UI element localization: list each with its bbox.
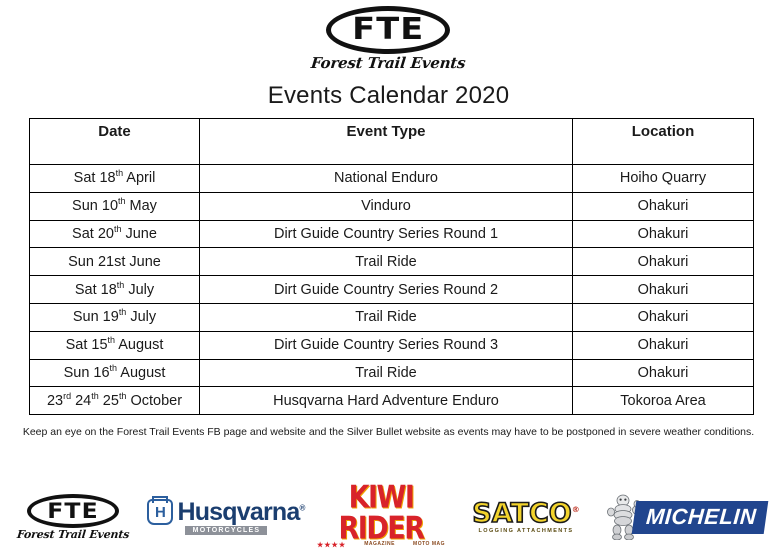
date-ordinal-suffix: th — [91, 391, 99, 401]
sponsor-satco: SATCO® LOGGING ATTACHMENTS — [456, 480, 596, 554]
cell-event-type: Dirt Guide Country Series Round 3 — [200, 331, 573, 359]
husqvarna-wordmark: Husqvarna® — [177, 500, 304, 525]
husqvarna-subtitle: MOTORCYCLES — [185, 526, 267, 535]
cell-event-type: Dirt Guide Country Series Round 1 — [200, 220, 573, 248]
cell-event-type: National Enduro — [200, 165, 573, 193]
sponsor-strip: FTE Forest Trail Events H Husqvarna® MOT… — [0, 480, 777, 554]
cell-event-type: Husqvarna Hard Adventure Enduro — [200, 387, 573, 415]
table-row: Sat 18th JulyDirt Guide Country Series R… — [30, 276, 754, 304]
fte-footer-logo: FTE Forest Trail Events — [17, 494, 129, 540]
cell-location: Ohakuri — [573, 192, 754, 220]
satco-name-text: SATCO — [472, 498, 571, 529]
column-header-event: Event Type — [200, 119, 573, 165]
page-title: Events Calendar 2020 — [0, 82, 777, 110]
cell-date: Sat 18th April — [30, 165, 200, 193]
cell-date: Sun 16th August — [30, 359, 200, 387]
table-row: Sun 21st JuneTrail RideOhakuri — [30, 248, 754, 276]
husqvarna-logo: H Husqvarna® MOTORCYCLES — [147, 499, 304, 535]
cell-location: Ohakuri — [573, 276, 754, 304]
fte-footer-letters: FTE — [47, 501, 99, 522]
cell-location: Ohakuri — [573, 303, 754, 331]
date-ordinal-suffix: th — [114, 224, 122, 234]
table-row: Sat 18th AprilNational EnduroHoiho Quarr… — [30, 165, 754, 193]
fte-oval-icon-footer: FTE — [27, 494, 119, 528]
column-header-date: Date — [30, 119, 200, 165]
cell-event-type: Trail Ride — [200, 359, 573, 387]
date-ordinal-suffix: rd — [63, 391, 71, 401]
date-ordinal-suffix: th — [116, 169, 124, 179]
date-ordinal-suffix: th — [119, 391, 127, 401]
cell-date: Sat 18th July — [30, 276, 200, 304]
table-row: Sun 10th MayVinduroOhakuri — [30, 192, 754, 220]
sponsor-fte: FTE Forest Trail Events — [0, 480, 146, 554]
satco-logo: SATCO® LOGGING ATTACHMENTS — [472, 500, 579, 535]
cell-date: Sat 20th June — [30, 220, 200, 248]
table-row: Sat 20th JuneDirt Guide Country Series R… — [30, 220, 754, 248]
events-table-body: Sat 18th AprilNational EnduroHoiho Quarr… — [30, 165, 754, 415]
date-ordinal-suffix: th — [118, 196, 126, 206]
sponsor-michelin: MICHELIN — [596, 480, 777, 554]
husqvarna-crown-icon: H — [147, 499, 173, 525]
cell-location: Hoiho Quarry — [573, 165, 754, 193]
cell-event-type: Vinduro — [200, 192, 573, 220]
cell-location: Ohakuri — [573, 248, 754, 276]
table-row: Sat 15th AugustDirt Guide Country Series… — [30, 331, 754, 359]
kiwi-rider-wordmark: KIWI RIDER — [306, 481, 456, 543]
kiwi-rider-logo: KIWI RIDER ★★★★ MAGAZINE MOTO MAG — [306, 486, 456, 549]
date-ordinal-suffix: th — [110, 363, 118, 373]
date-ordinal-suffix: th — [117, 280, 125, 290]
events-table-wrap: Date Event Type Location Sat 18th AprilN… — [29, 118, 750, 415]
sponsor-kiwi-rider: KIWI RIDER ★★★★ MAGAZINE MOTO MAG — [306, 480, 456, 554]
fte-logo-script: Forest Trail Events — [311, 56, 467, 71]
weather-footnote: Keep an eye on the Forest Trail Events F… — [0, 426, 777, 438]
cell-location: Tokoroa Area — [573, 387, 754, 415]
cell-date: Sun 19th July — [30, 303, 200, 331]
satco-wordmark: SATCO® — [472, 500, 579, 527]
sponsor-husqvarna: H Husqvarna® MOTORCYCLES — [146, 480, 306, 554]
cell-date: 23rd 24th 25th October — [30, 387, 200, 415]
husqvarna-h-mark: H — [155, 505, 166, 520]
cell-event-type: Trail Ride — [200, 303, 573, 331]
fte-footer-script: Forest Trail Events — [16, 529, 129, 540]
cell-location: Ohakuri — [573, 331, 754, 359]
cell-event-type: Dirt Guide Country Series Round 2 — [200, 276, 573, 304]
husqvarna-name-text: Husqvarna — [177, 498, 299, 526]
table-header-row: Date Event Type Location — [30, 119, 754, 165]
satco-subtitle: LOGGING ATTACHMENTS — [472, 529, 579, 535]
cell-date: Sat 15th August — [30, 331, 200, 359]
cell-location: Ohakuri — [573, 359, 754, 387]
events-calendar-table: Date Event Type Location Sat 18th AprilN… — [29, 118, 754, 415]
page-header: FTE Forest Trail Events Events Calendar … — [0, 0, 777, 110]
table-row: 23rd 24th 25th OctoberHusqvarna Hard Adv… — [30, 387, 754, 415]
date-ordinal-suffix: th — [119, 308, 127, 318]
satco-registered-mark: ® — [572, 505, 580, 514]
cell-location: Ohakuri — [573, 220, 754, 248]
michelin-banner: MICHELIN — [632, 501, 769, 534]
column-header-location: Location — [573, 119, 754, 165]
michelin-logo: MICHELIN — [606, 494, 766, 540]
date-ordinal-suffix: th — [108, 335, 116, 345]
fte-logo-letters: FTE — [352, 15, 424, 45]
husqvarna-registered-mark: ® — [299, 503, 304, 512]
table-row: Sun 19th JulyTrail RideOhakuri — [30, 303, 754, 331]
cell-event-type: Trail Ride — [200, 248, 573, 276]
fte-oval-icon: FTE — [326, 6, 450, 54]
cell-date: Sun 10th May — [30, 192, 200, 220]
michelin-wordmark: MICHELIN — [646, 506, 758, 528]
cell-date: Sun 21st June — [30, 248, 200, 276]
fte-logo: FTE Forest Trail Events — [311, 6, 465, 71]
table-row: Sun 16th AugustTrail RideOhakuri — [30, 359, 754, 387]
